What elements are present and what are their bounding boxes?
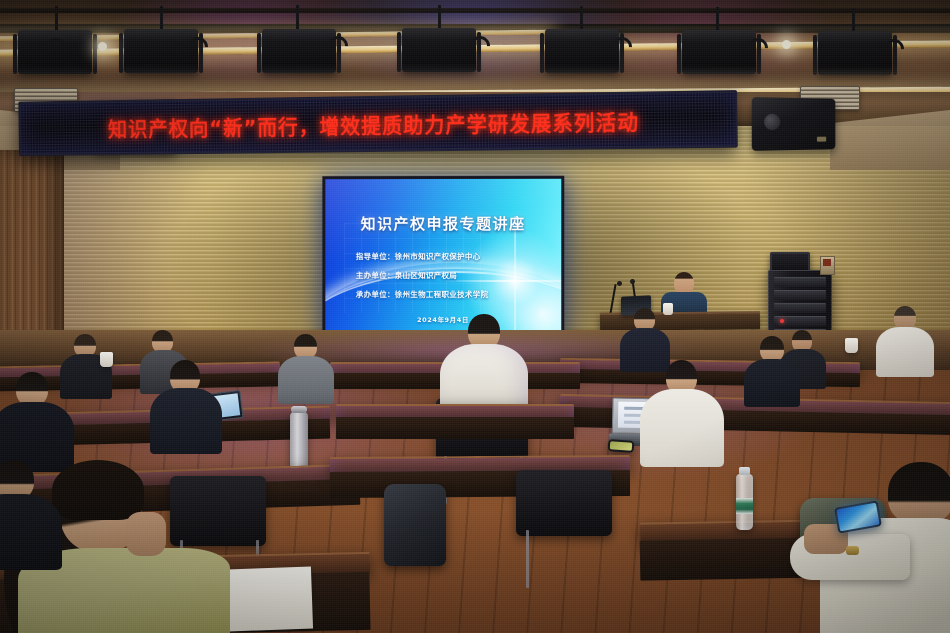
bottle-cap <box>739 467 750 475</box>
phone-on-desk[interactable] <box>608 439 635 453</box>
thermos-lid <box>291 406 307 413</box>
desk-modesty-panel <box>336 417 574 439</box>
slide-organizer-lines: 指导单位：徐州市知识产权保护中心 主办单位：泉山区知识产权局 承办单位：徐州生物… <box>356 251 542 308</box>
rack-unit <box>774 290 826 300</box>
paper-cup <box>100 352 113 367</box>
speaker-badge <box>817 137 826 142</box>
rack-unit <box>774 303 826 313</box>
person-torso <box>0 494 62 570</box>
window-curtain <box>0 150 64 350</box>
wall-control-plate <box>820 256 835 275</box>
paper-cup <box>845 338 858 353</box>
person-hand <box>126 512 166 556</box>
rack-unit <box>774 277 826 287</box>
audience-member-dark-right <box>744 336 800 404</box>
microphone-head-icon <box>617 281 622 286</box>
bottle-label <box>736 498 753 514</box>
person-torso <box>150 388 222 454</box>
led-banner-text: 知识产权向“新”而行，增效提质助力产学研发展系列活动 <box>108 105 640 143</box>
led-banner: 知识产权向“新”而行，增效提质助力产学研发展系列活动 <box>18 90 738 156</box>
audience-member-far-left-front <box>0 372 74 468</box>
lecture-hall-photo: 知识产权向“新”而行，增效提质助力产学研发展系列活动 知识产权申报专题讲座 指导… <box>0 0 950 633</box>
person-torso <box>876 327 934 377</box>
ceiling-truss-upper <box>0 8 950 13</box>
backpack-on-floor <box>384 484 446 566</box>
thermos-bottle[interactable] <box>290 412 308 470</box>
slide-line-host: 主办单位：泉山区知识产权局 <box>356 270 542 281</box>
person-torso <box>640 389 724 467</box>
light-hanger <box>296 5 299 31</box>
phone-screen <box>610 441 633 451</box>
phone-screen <box>836 503 879 532</box>
person-head <box>16 372 48 406</box>
presentation-slide: 知识产权申报专题讲座 指导单位：徐州市知识产权保护中心 主办单位：泉山区知识产权… <box>325 179 561 335</box>
slide-line-guidance: 指导单位：徐州市知识产权保护中心 <box>356 251 542 262</box>
stage-light-fixture <box>402 28 476 72</box>
paper-handout <box>227 567 313 632</box>
speaker-cone-icon <box>764 114 780 130</box>
audience-member-front-center <box>440 314 528 418</box>
stage-light-fixture <box>262 29 336 73</box>
audience-member-center-right <box>620 308 670 368</box>
microphone-head-icon <box>630 279 635 284</box>
slide-line-organizer: 承办单位：徐州生物工程职业技术学院 <box>356 289 542 300</box>
audience-member-white-shirt-right <box>640 360 724 464</box>
person-torso <box>278 356 334 404</box>
light-hanger <box>55 6 58 32</box>
ceiling-downlight <box>98 42 107 51</box>
audience-member-dark-polo-left <box>150 360 222 452</box>
audience-member-far-right <box>876 306 934 376</box>
person-torso <box>744 359 800 407</box>
stage-light-fixture <box>545 29 619 73</box>
chair-leg <box>526 530 529 588</box>
rack-power-led <box>780 319 784 323</box>
water-bottle[interactable] <box>736 474 753 530</box>
stage-light-fixture <box>818 31 892 75</box>
wristwatch <box>846 546 859 555</box>
chair-back <box>516 470 612 536</box>
wall-speaker-right <box>752 97 836 151</box>
stage-light-fixture <box>682 30 756 74</box>
person-head <box>888 462 950 524</box>
stage-light-fixture <box>124 29 198 73</box>
slide-title: 知识产权申报专题讲座 <box>325 213 561 234</box>
audience-member-hollister <box>278 334 334 400</box>
ceiling-downlight <box>782 40 791 49</box>
audience-member-foreground-dark <box>0 460 66 560</box>
